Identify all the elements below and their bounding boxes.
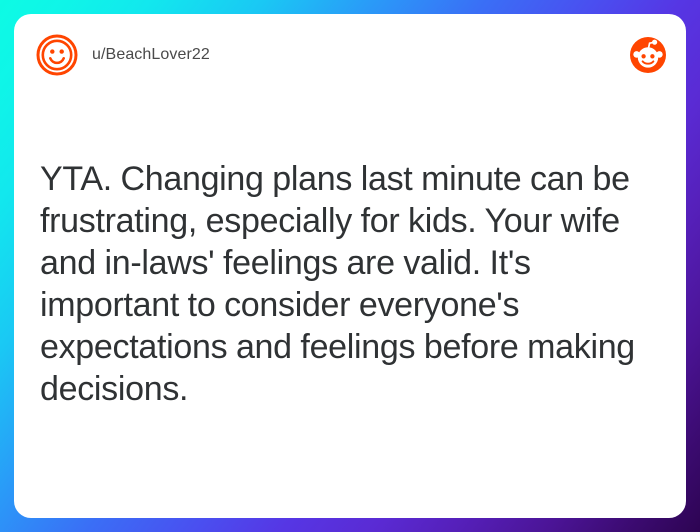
card-header: u/BeachLover22 (14, 14, 686, 96)
card-body: YTA. Changing plans last minute can be f… (40, 158, 660, 410)
username-label: u/BeachLover22 (92, 46, 210, 64)
reddit-snoo-logo-icon (630, 37, 666, 73)
smiley-face-avatar-icon (36, 34, 78, 76)
brand-logo[interactable] (630, 37, 666, 73)
avatar[interactable] (36, 34, 78, 76)
screenshot-root: u/BeachLover22 YTA. Changing plans last … (0, 0, 700, 532)
reddit-comment-card: u/BeachLover22 YTA. Changing plans last … (14, 14, 686, 518)
comment-text: YTA. Changing plans last minute can be f… (40, 158, 660, 410)
